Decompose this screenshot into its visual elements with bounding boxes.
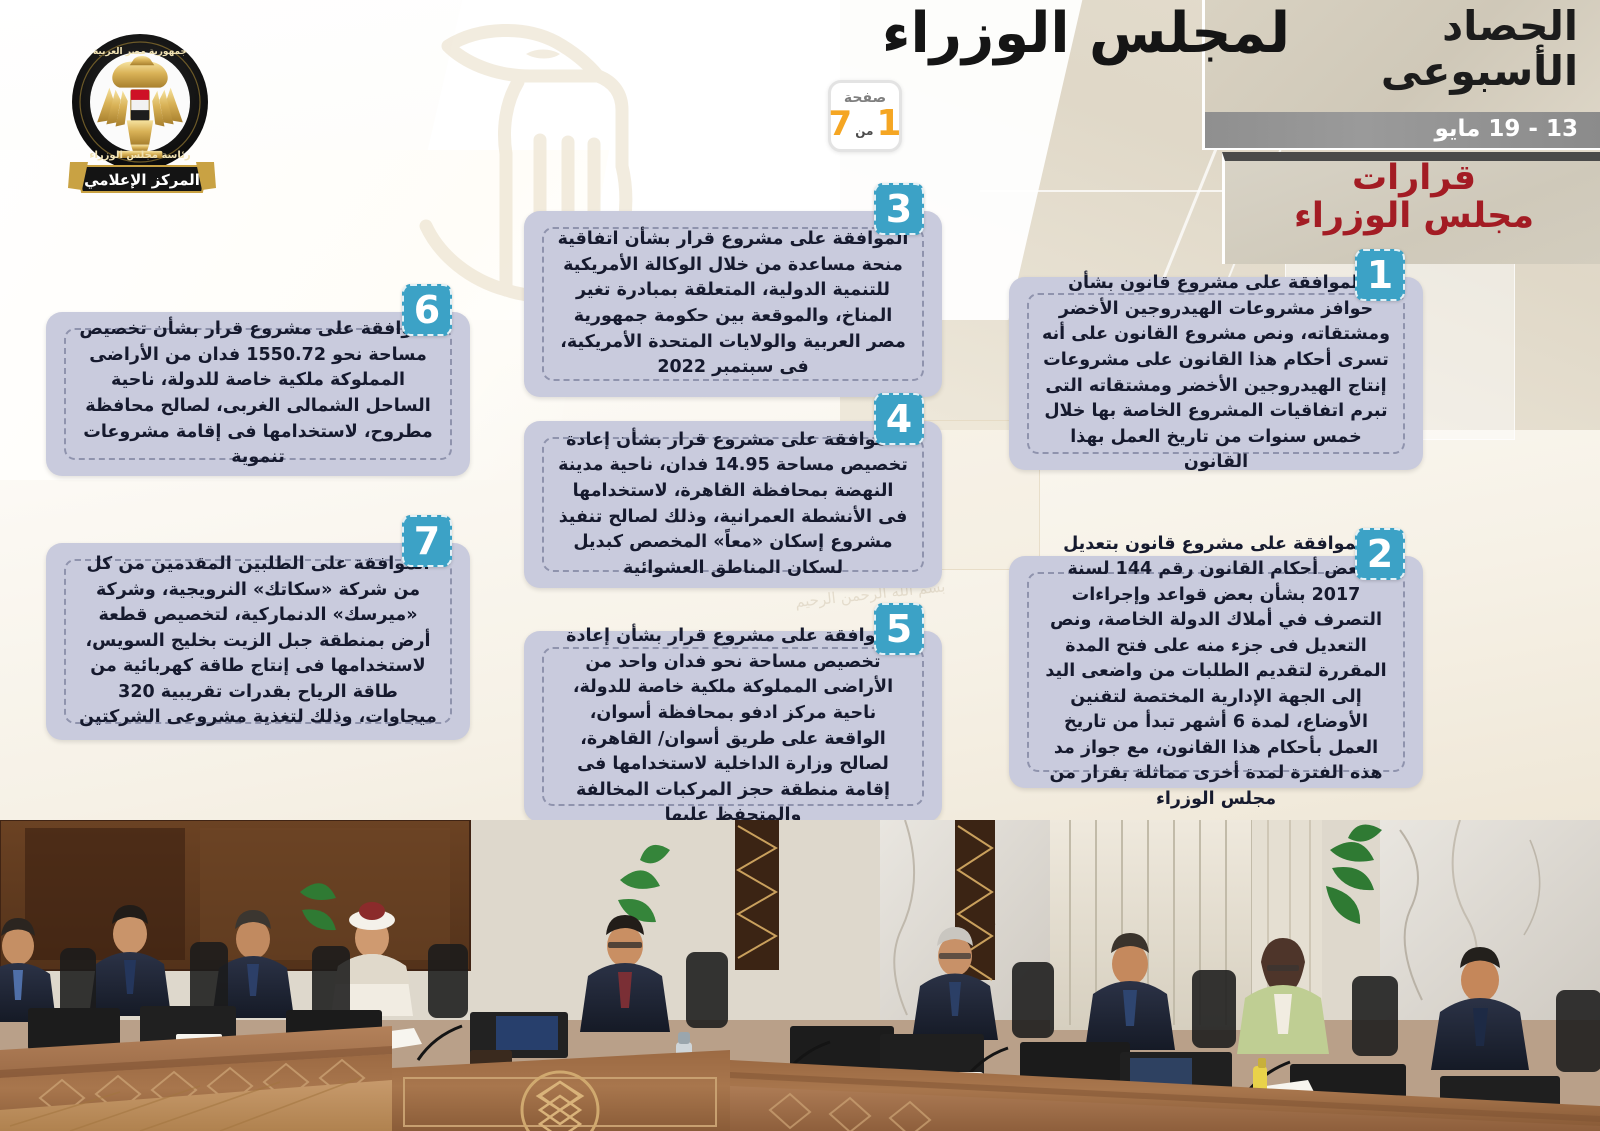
decision-card-text: الموافقة على مشروع قرار بشأن اتفاقية منح… [557, 227, 909, 380]
decision-card[interactable]: 2 الموافقة على مشروع قانون بتعديل بعض أح… [1009, 556, 1423, 788]
page-total-number: 7 [829, 107, 853, 141]
decision-card-number: 1 [1355, 249, 1405, 301]
decision-card-inner: الموافقة على مشروع قرار بشأن تخصيص مساحة… [64, 328, 452, 460]
infographic-page: بسم الله الرحمن الرحيم [0, 0, 1600, 1131]
decision-card-inner: الموافقة على مشروع قانون بتعديل بعض أحكا… [1027, 572, 1405, 772]
svg-text:المركز الإعلامي: المركز الإعلامي [84, 171, 200, 189]
decision-card-text: الموافقة على مشروع قانون بشأن حوافز مشرو… [1042, 271, 1390, 475]
header-title-line2: الأسبوعى [1208, 49, 1578, 94]
decision-card-text: الموافقة على مشروع قرار بشأن تخصيص مساحة… [79, 317, 437, 470]
svg-text:جمهورية مصر العربية: جمهورية مصر العربية [93, 47, 187, 57]
page-indicator-numbers: 1 من 7 [829, 106, 902, 142]
decision-card-inner: الموافقة على مشروع قرار بشأن اتفاقية منح… [542, 227, 924, 381]
decision-card-inner: الموافقة على مشروع قرار بشأن إعادة تخصيص… [542, 437, 924, 572]
date-range-label: 13 - 19 مايو [1434, 116, 1578, 142]
header-title-block: الحصاد الأسبوعى [1208, 4, 1578, 94]
decision-card-text: الموافقة على مشروع قانون بتعديل بعض أحكا… [1042, 532, 1390, 813]
decision-card[interactable]: 5 الموافقة على مشروع قرار بشأن إعادة تخص… [524, 631, 942, 822]
decision-card-inner: الموافقة على مشروع قرار بشأن إعادة تخصيص… [542, 647, 924, 806]
background-triangle [772, 138, 816, 206]
decision-card-number: 4 [874, 393, 924, 445]
section-header-title: قرارات مجلس الوزراء [1228, 160, 1600, 236]
page-of-label: من [855, 124, 873, 138]
decision-card-inner: الموافقة على الطلبين المقدمين من كل من ش… [64, 559, 452, 724]
decision-card[interactable]: 3 الموافقة على مشروع قرار بشأن اتفاقية م… [524, 211, 942, 397]
section-header-line1: قرارات [1352, 158, 1476, 198]
decision-card-text: الموافقة على مشروع قرار بشأن إعادة تخصيص… [557, 624, 909, 828]
decision-card-number: 3 [874, 183, 924, 235]
decision-card-number: 5 [874, 603, 924, 655]
page-indicator-badge: صفحة 1 من 7 [828, 80, 902, 152]
section-header-line2: مجلس الوزراء [1228, 198, 1600, 236]
decision-card-inner: الموافقة على مشروع قانون بشأن حوافز مشرو… [1027, 293, 1405, 454]
decision-card[interactable]: 4 الموافقة على مشروع قرار بشأن إعادة تخص… [524, 421, 942, 588]
header-title-line1: الحصاد [1442, 2, 1578, 50]
cabinet-media-center-logo: جمهورية مصر العربية رئاسة مجلس الوزراء ا… [62, 30, 222, 195]
decision-card[interactable]: 6 الموافقة على مشروع قرار بشأن تخصيص مسا… [46, 312, 470, 476]
svg-text:رئاسة مجلس الوزراء: رئاسة مجلس الوزراء [89, 150, 190, 161]
decision-card[interactable]: 7 الموافقة على الطلبين المقدمين من كل من… [46, 543, 470, 740]
decision-card-number: 2 [1355, 528, 1405, 580]
decision-card-text: الموافقة على الطلبين المقدمين من كل من ش… [79, 552, 437, 731]
decision-card[interactable]: 1 الموافقة على مشروع قانون بشأن حوافز مش… [1009, 277, 1423, 470]
cabinet-meeting-photo [0, 820, 1600, 1131]
decision-card-text: الموافقة على مشروع قرار بشأن إعادة تخصيص… [557, 428, 909, 581]
decision-card-number: 7 [402, 515, 452, 567]
page-current-number: 1 [876, 106, 901, 142]
decision-card-number: 6 [402, 284, 452, 336]
